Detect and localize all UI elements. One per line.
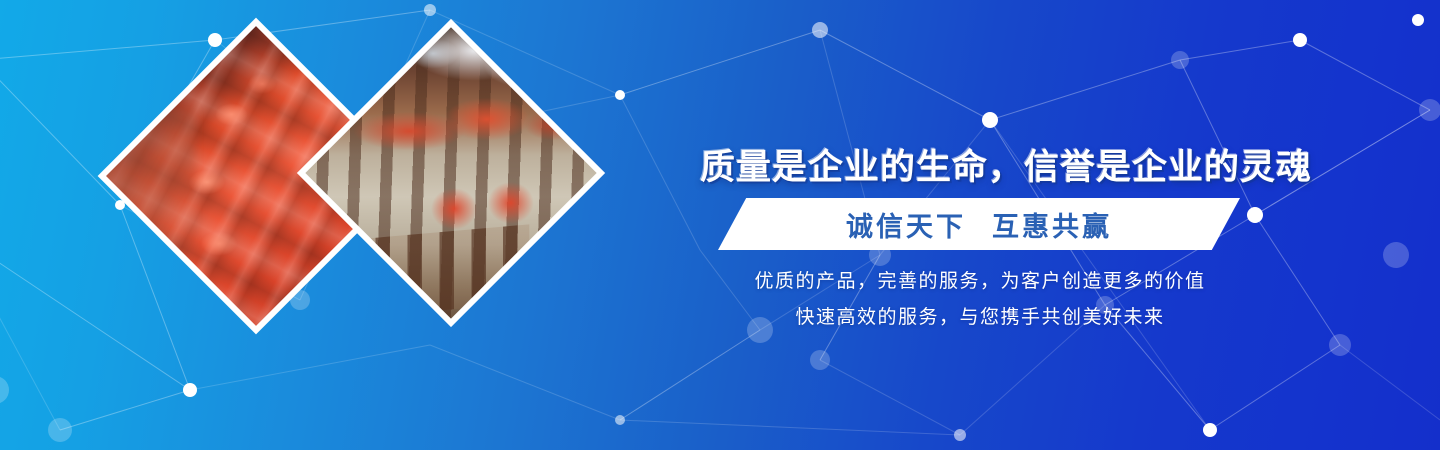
slogan-ribbon: 诚信天下 互惠共赢 <box>718 198 1240 250</box>
banner-headline: 质量是企业的生命，信誉是企业的灵魂 <box>700 139 1260 190</box>
product-photo-diamond-warehouse[interactable] <box>305 27 596 318</box>
slogan-left-text: 诚信天下 <box>846 205 966 244</box>
banner-subline-2: 快速高效的服务，与您携手共创美好未来 <box>700 302 1260 329</box>
banner-subline-1: 优质的产品，完善的服务，为客户创造更多的价值 <box>700 266 1260 293</box>
slogan-right-text: 互惠共赢 <box>992 205 1112 244</box>
promotional-banner: 质量是企业的生命，信誉是企业的灵魂 诚信天下 互惠共赢 优质的产品，完善的服务，… <box>0 0 1440 450</box>
banner-copy-block: 质量是企业的生命，信誉是企业的灵魂 诚信天下 互惠共赢 优质的产品，完善的服务，… <box>700 0 1260 450</box>
warehouse-pallets-couplings-image <box>305 27 596 318</box>
slogan-ribbon-text: 诚信天下 互惠共赢 <box>718 198 1240 250</box>
